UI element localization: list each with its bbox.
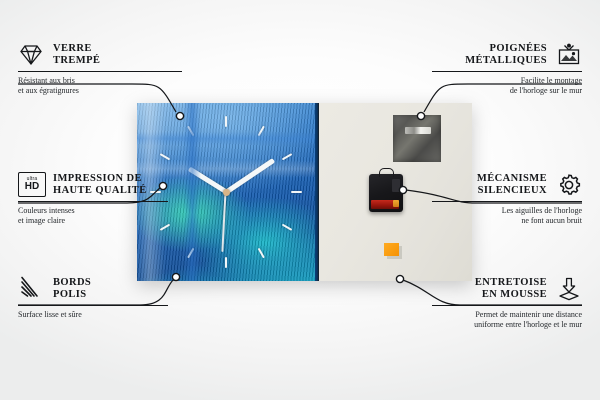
- callout-impression-hd: ultra HD IMPRESSION DE HAUTE QUALITÉ Cou…: [18, 172, 168, 226]
- callout-poignees-metalliques: POIGNÉES MÉTALLIQUES Facilite le montage…: [432, 42, 582, 96]
- clock-center-cap: [223, 189, 230, 196]
- callout-subtitle: Surface lisse et sûre: [18, 306, 168, 320]
- callout-header: POIGNÉES MÉTALLIQUES: [432, 42, 582, 71]
- callout-subtitle: Les aiguilles de l'horloge ne font aucun…: [432, 202, 582, 226]
- callout-subtitle: Permet de maintenir une distance uniform…: [432, 306, 582, 330]
- battery: [371, 200, 399, 209]
- callout-title: MÉCANISME SILENCIEUX: [477, 173, 547, 198]
- callout-title: POIGNÉES MÉTALLIQUES: [465, 43, 547, 68]
- product-image: [137, 103, 472, 281]
- infographic-canvas: VERRE TREMPÉ Résistant aux bris et aux é…: [0, 0, 600, 400]
- polished-edges-icon: [18, 276, 44, 302]
- clock-hand-hour: [187, 167, 227, 195]
- callout-title: VERRE TREMPÉ: [53, 43, 100, 68]
- foam-spacer-icon: [556, 276, 582, 302]
- callout-header: MÉCANISME SILENCIEUX: [432, 172, 582, 201]
- callout-header: ENTRETOISE EN MOUSSE: [432, 276, 582, 305]
- clock-hand-second: [222, 192, 227, 252]
- callout-subtitle: Facilite le montage de l'horloge sur le …: [432, 72, 582, 96]
- handle-slot: [405, 127, 431, 134]
- callout-header: ultra HD IMPRESSION DE HAUTE QUALITÉ: [18, 172, 168, 201]
- mechanism-hanging-loop: [379, 168, 394, 177]
- metal-handle-plate: [393, 115, 441, 162]
- callout-mecanisme-silencieux: MÉCANISME SILENCIEUX Les aiguilles de l'…: [432, 172, 582, 226]
- callout-title: BORDS POLIS: [53, 277, 91, 302]
- callout-verre-trempe: VERRE TREMPÉ Résistant aux bris et aux é…: [18, 42, 182, 96]
- callout-subtitle: Couleurs intenses et image claire: [18, 202, 168, 226]
- foam-spacer: [384, 243, 399, 256]
- ultra-hd-icon: ultra HD: [18, 172, 44, 198]
- callout-subtitle: Résistant aux bris et aux égratignures: [18, 72, 182, 96]
- battery-terminal: [393, 200, 399, 207]
- clock-mechanism: [369, 174, 403, 212]
- callout-header: VERRE TREMPÉ: [18, 42, 182, 71]
- callout-header: BORDS POLIS: [18, 276, 168, 305]
- clock-hand-minute: [225, 158, 275, 194]
- callout-bords-polis: BORDS POLIS Surface lisse et sûre: [18, 276, 168, 320]
- picture-hanger-icon: [556, 42, 582, 68]
- callout-title: ENTRETOISE EN MOUSSE: [475, 277, 547, 302]
- gear-icon: [556, 172, 582, 198]
- mechanism-detail: [392, 179, 400, 192]
- diamond-icon: [18, 42, 44, 68]
- callout-entretoise-mousse: ENTRETOISE EN MOUSSE Permet de maintenir…: [432, 276, 582, 330]
- callout-title: IMPRESSION DE HAUTE QUALITÉ: [53, 173, 147, 198]
